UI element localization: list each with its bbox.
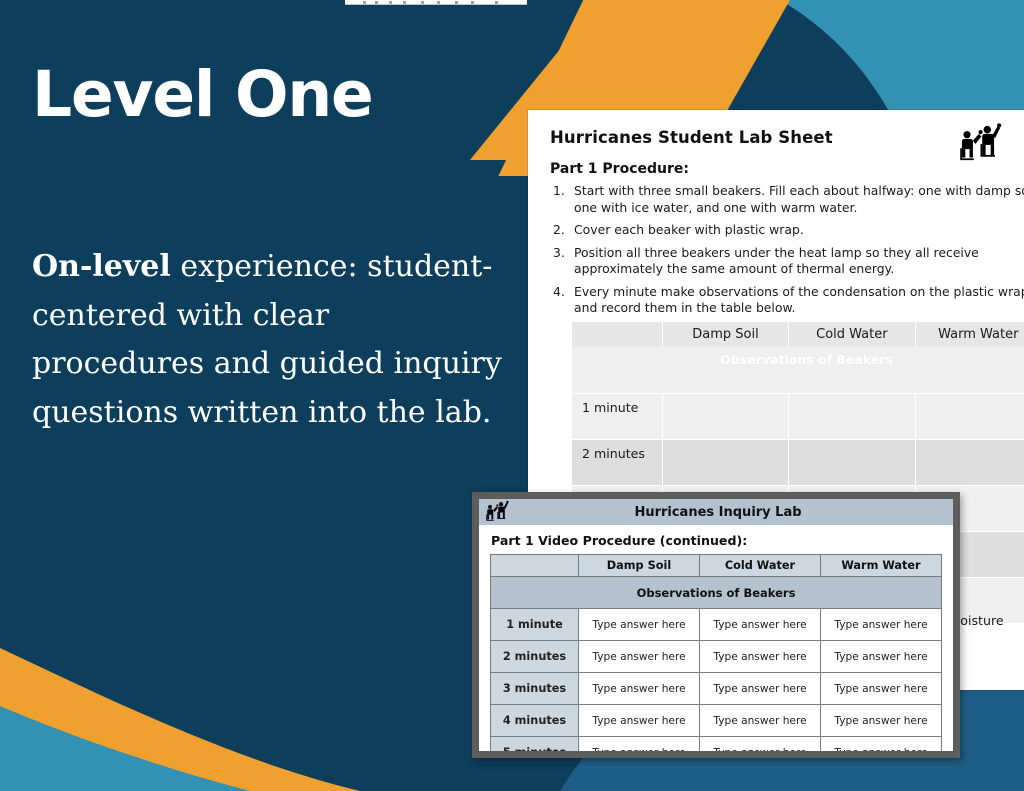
- list-item-number: 1.: [550, 183, 574, 216]
- cell-damp-soil[interactable]: Type answer here: [579, 609, 700, 641]
- cell-damp-soil[interactable]: Type answer here: [579, 737, 700, 759]
- list-item-line1: Cover each beaker with plastic wrap.: [574, 222, 804, 237]
- list-item-line2: one with ice water, and one with warm wa…: [574, 200, 1024, 217]
- cell-damp-soil[interactable]: Type answer here: [579, 705, 700, 737]
- table-banner-label: Observations of Beakers: [491, 577, 942, 609]
- cell-warm-water[interactable]: Type answer here: [821, 705, 942, 737]
- list-item: 2. Cover each beaker with plastic wrap.: [550, 222, 1024, 239]
- list-item-text: Position all three beakers under the hea…: [574, 245, 1024, 278]
- table-row: 3 minutes Type answer here Type answer h…: [491, 673, 942, 705]
- column-header-damp-soil: Damp Soil: [579, 555, 700, 577]
- inquiry-lab-document[interactable]: Hurricanes Inquiry Lab Part 1 Video Proc…: [472, 492, 960, 758]
- inquiry-lab-header: Hurricanes Inquiry Lab: [479, 499, 953, 525]
- back-sheet-procedure-list: 1. Start with three small beakers. Fill …: [550, 183, 1024, 317]
- list-item-text: Every minute make observations of the co…: [574, 284, 1024, 317]
- row-label: 3 minutes: [491, 673, 579, 705]
- list-item: 1. Start with three small beakers. Fill …: [550, 183, 1024, 216]
- cell-cold-water[interactable]: Type answer here: [700, 705, 821, 737]
- list-item-line1: Position all three beakers under the hea…: [574, 245, 979, 260]
- column-header-warm-water: Warm Water: [821, 555, 942, 577]
- cell-warm-water[interactable]: [915, 439, 1024, 485]
- list-item: 3. Position all three beakers under the …: [550, 245, 1024, 278]
- row-label: 2 minutes: [491, 641, 579, 673]
- page-title: Level One: [32, 62, 502, 128]
- cell-cold-water[interactable]: Type answer here: [700, 737, 821, 759]
- list-item-number: 3.: [550, 245, 574, 278]
- presentation-slide: Level One On-level experience: student-c…: [0, 0, 1024, 791]
- cell-cold-water[interactable]: Type answer here: [700, 641, 821, 673]
- row-label: 5 minutes: [491, 737, 579, 759]
- table-header-row: Damp Soil Cold Water Warm Water: [572, 322, 1024, 347]
- list-item-text: Cover each beaker with plastic wrap.: [574, 222, 1024, 239]
- inquiry-lab-title: Hurricanes Inquiry Lab: [483, 505, 953, 520]
- column-header-cold-water: Cold Water: [700, 555, 821, 577]
- cell-warm-water[interactable]: Type answer here: [821, 641, 942, 673]
- column-header-blank: [491, 555, 579, 577]
- row-label: 4 minutes: [491, 705, 579, 737]
- table-row: 5 minutes Type answer here Type answer h…: [491, 737, 942, 759]
- list-item-line1: Every minute make observations of the co…: [574, 284, 1024, 299]
- list-item-number: 4.: [550, 284, 574, 317]
- cell-warm-water[interactable]: Type answer here: [821, 609, 942, 641]
- table-row: 1 minute Type answer here Type answer he…: [491, 609, 942, 641]
- column-header-damp-soil: Damp Soil: [662, 322, 788, 347]
- inquiry-lab-observations-table[interactable]: Observations of Beakers Damp Soil Cold W…: [490, 554, 942, 758]
- cell-warm-water[interactable]: Type answer here: [821, 673, 942, 705]
- cell-damp-soil[interactable]: Type answer here: [579, 641, 700, 673]
- column-header-warm-water: Warm Water: [915, 322, 1024, 347]
- table-header-row: Damp Soil Cold Water Warm Water: [491, 555, 942, 577]
- back-sheet-title: Hurricanes Student Lab Sheet: [550, 128, 1008, 147]
- list-item: 4. Every minute make observations of the…: [550, 284, 1024, 317]
- column-header-cold-water: Cold Water: [789, 322, 915, 347]
- back-sheet-subtitle: Part 1 Procedure:: [550, 161, 1008, 177]
- row-label: 2 minutes: [572, 439, 662, 485]
- column-header-blank: [572, 322, 662, 347]
- cell-damp-soil[interactable]: [662, 393, 788, 439]
- cell-cold-water[interactable]: [789, 439, 915, 485]
- cell-warm-water[interactable]: Type answer here: [821, 737, 942, 759]
- body-text: On-level experience: student-centered wi…: [32, 243, 510, 437]
- list-item-number: 2.: [550, 222, 574, 239]
- cell-damp-soil[interactable]: [662, 439, 788, 485]
- background-window-sliver: [345, 0, 527, 5]
- cell-cold-water[interactable]: Type answer here: [700, 673, 821, 705]
- table-row: 2 minutes Type answer here Type answer h…: [491, 641, 942, 673]
- inquiry-lab-subtitle: Part 1 Video Procedure (continued):: [479, 525, 953, 554]
- list-item-text: Start with three small beakers. Fill eac…: [574, 183, 1024, 216]
- list-item-line2: and record them in the table below.: [574, 300, 1024, 317]
- table-row: 1 minute: [572, 393, 1024, 439]
- body-text-lead: On-level: [32, 249, 171, 284]
- table-row: 4 minutes Type answer here Type answer h…: [491, 705, 942, 737]
- table-banner-label: Observations of Beakers: [572, 347, 1024, 393]
- table-banner-row: Observations of Beakers: [491, 577, 942, 609]
- row-label: 1 minute: [572, 393, 662, 439]
- row-label: 1 minute: [491, 609, 579, 641]
- table-row: 2 minutes: [572, 439, 1024, 485]
- cell-cold-water[interactable]: Type answer here: [700, 609, 821, 641]
- list-item-line1: Start with three small beakers. Fill eac…: [574, 183, 1024, 198]
- cell-damp-soil[interactable]: Type answer here: [579, 673, 700, 705]
- list-item-line2: approximately the same amount of thermal…: [574, 261, 1024, 278]
- cell-cold-water[interactable]: [789, 393, 915, 439]
- table-banner-row: Observations of Beakers: [572, 347, 1024, 393]
- students-raising-hands-icon: [952, 122, 1004, 166]
- cell-warm-water[interactable]: [915, 393, 1024, 439]
